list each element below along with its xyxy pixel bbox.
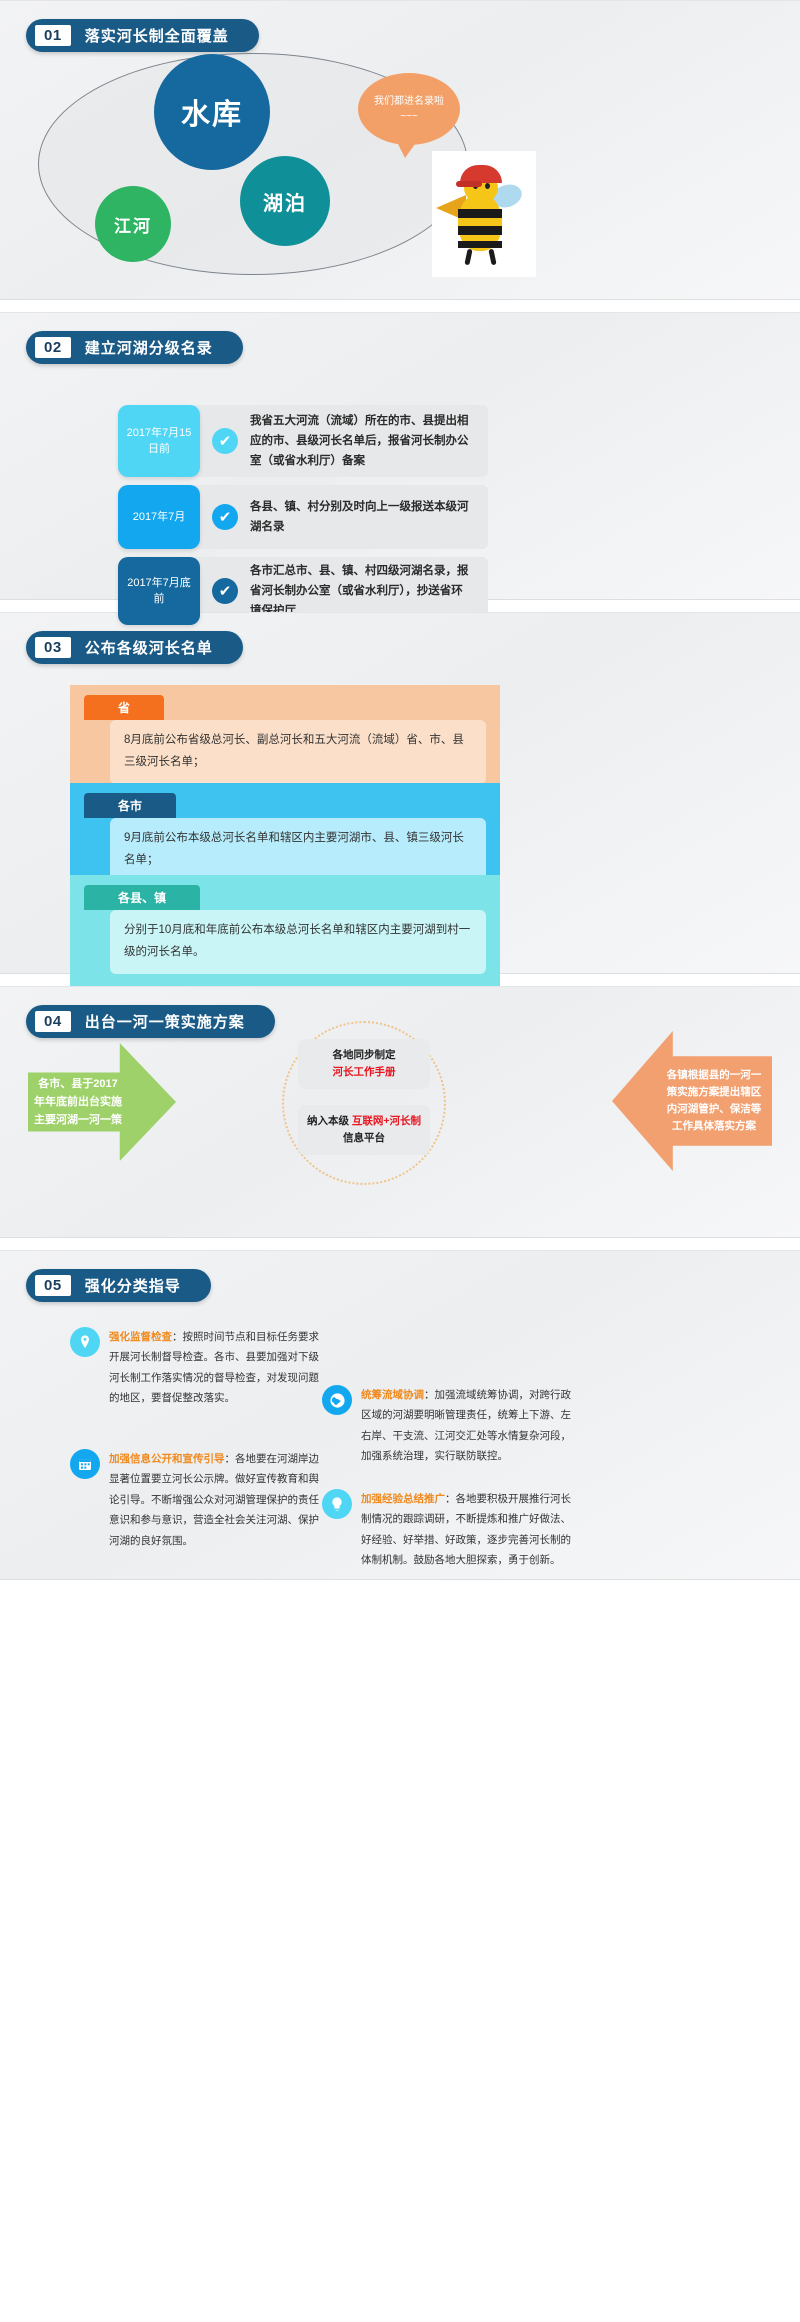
timeline-row: 2017年7月15日前 ✔ 我省五大河流（流域）所在的市、县提出相应的市、县级河…	[118, 405, 488, 477]
flow-card-line: 纳入本级	[307, 1115, 352, 1127]
guidance-text: 强化监督检查：按照时间节点和目标任务要求开展河长制督导检查。各市、县要加强对下级…	[109, 1327, 321, 1409]
location-pin-icon	[70, 1327, 100, 1357]
section-01-title: 落实河长制全面覆盖	[85, 25, 229, 46]
left-arrow-city-county: 各市、县于2017年年底前出台实施主要河湖一河一策	[28, 1043, 176, 1161]
check-icon: ✔	[212, 428, 238, 454]
flow-card-highlight: 互联网+河长制	[352, 1115, 421, 1127]
guidance-text: 统筹流域协调：加强流域统筹协调，对跨行政区域的河湖要明晰管理责任，统筹上下游、左…	[361, 1385, 573, 1467]
calendar-icon	[70, 1449, 100, 1479]
guidance-text: 加强信息公开和宣传引导：各地要在河湖岸边显著位置要立河长公示牌。做好宣传教育和舆…	[109, 1449, 321, 1551]
bee-leg	[464, 249, 472, 266]
timeline-date: 2017年7月底前	[118, 557, 200, 625]
bee-eye	[485, 183, 490, 189]
level-text: 8月底前公布省级总河长、副总河长和五大河流（流域）省、市、县三级河长名单；	[110, 720, 486, 784]
section-05-header: 05 强化分类指导	[26, 1269, 211, 1302]
level-tag: 各县、镇	[84, 885, 200, 910]
section-02-number: 02	[35, 337, 71, 358]
flow-card-highlight: 河长工作手册	[333, 1066, 396, 1078]
level-text: 分别于10月底和年底前公布本级总河长名单和辖区内主要河湖到村一级的河长名单。	[110, 910, 486, 974]
circle-river: 江河	[95, 186, 171, 262]
timeline-text: 我省五大河流（流域）所在的市、县提出相应的市、县级河长名单后，报省河长制办公室（…	[250, 411, 474, 471]
flow-card-platform: 纳入本级 互联网+河长制 信息平台	[298, 1105, 430, 1155]
bee-mascot-image	[432, 151, 536, 277]
infographic-page: 01 落实河长制全面覆盖 水库 湖泊 江河 我们都进名录啦~~~ 02	[0, 0, 800, 1580]
section-05-title: 强化分类指导	[85, 1275, 181, 1296]
section-02-title: 建立河湖分级名录	[85, 337, 213, 358]
section-05-number: 05	[35, 1275, 71, 1296]
section-01-header: 01 落实河长制全面覆盖	[26, 19, 259, 52]
guidance-title: 加强经验总结推广	[361, 1493, 445, 1505]
flow-card-line: 各地同步制定	[333, 1049, 396, 1061]
section-02-hierarchy-list: 02 建立河湖分级名录 2017年7月15日前 ✔ 我省五大河流（流域）所在的市…	[0, 312, 800, 600]
circle-lake: 湖泊	[240, 156, 330, 246]
guidance-title: 强化监督检查	[109, 1331, 172, 1343]
timeline-date: 2017年7月15日前	[118, 405, 200, 477]
section-02-header: 02 建立河湖分级名录	[26, 331, 243, 364]
guidance-body: ：各地要在河湖岸边显著位置要立河长公示牌。做好宣传教育和舆论引导。不断增强公众对…	[109, 1453, 319, 1547]
section-divider	[0, 300, 800, 312]
flow-card-handbook: 各地同步制定 河长工作手册	[298, 1039, 430, 1089]
guidance-title: 统筹流域协调	[361, 1389, 424, 1401]
section-04-title: 出台一河一策实施方案	[85, 1011, 245, 1032]
section-03-title: 公布各级河长名单	[85, 637, 213, 658]
bee-cap-brim	[456, 181, 482, 187]
guidance-item-experience: 加强经验总结推广：各地要积极开展推行河长制情况的跟踪调研，不断提炼和推广好做法、…	[322, 1489, 573, 1571]
level-tag: 省	[84, 695, 164, 720]
speech-bubble: 我们都进名录啦~~~	[358, 73, 460, 145]
timeline-date: 2017年7月	[118, 485, 200, 549]
circle-reservoir: 水库	[154, 54, 270, 170]
level-text: 9月底前公布本级总河长名单和辖区内主要河湖市、县、镇三级河长名单；	[110, 818, 486, 882]
level-tag: 各市	[84, 793, 176, 818]
bee-stripe	[458, 209, 502, 218]
right-arrow-towns: 各镇根据县的一河一策实施方案提出辖区内河湖管护、保洁等工作具体落实方案	[612, 1031, 772, 1171]
section-03-publish-list: 03 公布各级河长名单 省 8月底前公布省级总河长、副总河长和五大河流（流域）省…	[0, 612, 800, 974]
section-divider	[0, 1238, 800, 1250]
bee-leg	[488, 249, 496, 266]
section-01-number: 01	[35, 25, 71, 46]
timeline-text: 各县、镇、村分别及时向上一级报送本级河湖名录	[250, 497, 474, 537]
timeline-row: 2017年7月 ✔ 各县、镇、村分别及时向上一级报送本级河湖名录	[118, 485, 488, 549]
timeline-body: ✔ 各县、镇、村分别及时向上一级报送本级河湖名录	[190, 485, 488, 549]
bee-stripe	[458, 241, 502, 248]
section-01-full-coverage: 01 落实河长制全面覆盖 水库 湖泊 江河 我们都进名录啦~~~	[0, 0, 800, 300]
section-03-number: 03	[35, 637, 71, 658]
section-04-number: 04	[35, 1011, 71, 1032]
level-panel-counties-towns: 各县、镇 分别于10月底和年底前公布本级总河长名单和辖区内主要河湖到村一级的河长…	[70, 875, 500, 986]
section-04-policy-plan: 04 出台一河一策实施方案 各市、县于2017年年底前出台实施主要河湖一河一策 …	[0, 986, 800, 1238]
globe-icon	[322, 1385, 352, 1415]
guidance-item-disclosure: 加强信息公开和宣传引导：各地要在河湖岸边显著位置要立河长公示牌。做好宣传教育和舆…	[70, 1449, 321, 1551]
timeline-body: ✔ 我省五大河流（流域）所在的市、县提出相应的市、县级河长名单后，报省河长制办公…	[190, 405, 488, 477]
flow-card-line3: 信息平台	[343, 1132, 385, 1144]
check-icon: ✔	[212, 504, 238, 530]
check-icon: ✔	[212, 578, 238, 604]
guidance-item-supervision: 强化监督检查：按照时间节点和目标任务要求开展河长制督导检查。各市、县要加强对下级…	[70, 1327, 321, 1409]
level-panel-province: 省 8月底前公布省级总河长、副总河长和五大河流（流域）省、市、县三级河长名单；	[70, 685, 500, 796]
guidance-text: 加强经验总结推广：各地要积极开展推行河长制情况的跟踪调研，不断提炼和推广好做法、…	[361, 1489, 573, 1571]
section-03-header: 03 公布各级河长名单	[26, 631, 243, 664]
guidance-title: 加强信息公开和宣传引导	[109, 1453, 225, 1465]
bee-stripe	[458, 226, 502, 235]
lightbulb-icon	[322, 1489, 352, 1519]
section-04-header: 04 出台一河一策实施方案	[26, 1005, 275, 1038]
section-05-classified-guidance: 05 强化分类指导 强化监督检查：按照时间节点和目标任务要求开展河长制督导检查。…	[0, 1250, 800, 1580]
guidance-item-coordination: 统筹流域协调：加强流域统筹协调，对跨行政区域的河湖要明晰管理责任，统筹上下游、左…	[322, 1385, 573, 1467]
